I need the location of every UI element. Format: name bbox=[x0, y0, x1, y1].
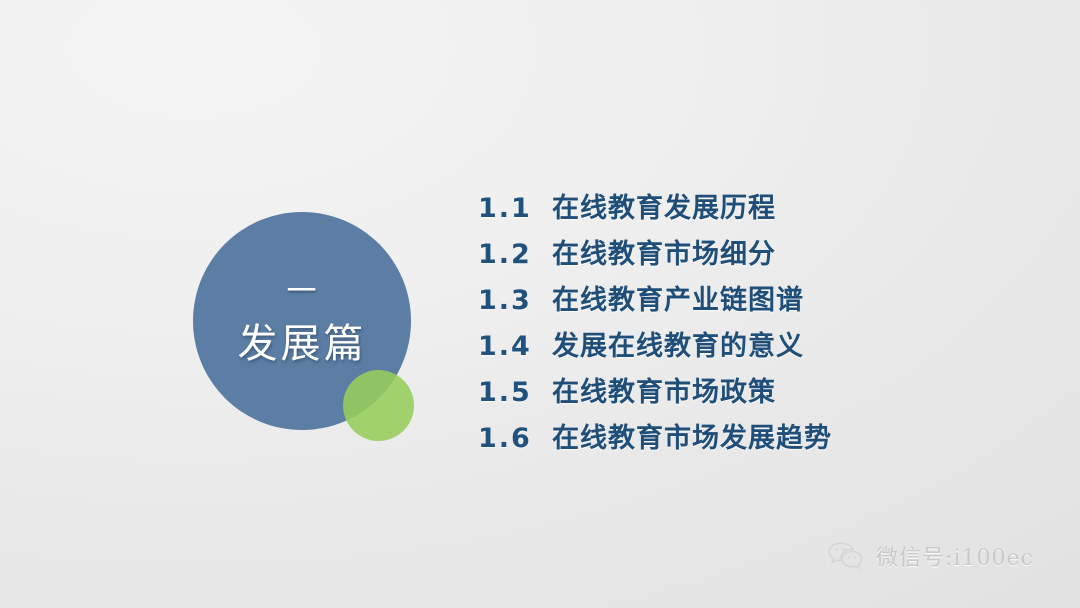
list-item[interactable]: 1.3 在线教育产业链图谱 bbox=[478, 278, 1008, 324]
list-item[interactable]: 1.4 发展在线教育的意义 bbox=[478, 324, 1008, 370]
agenda-item-number: 1.4 bbox=[478, 331, 544, 362]
list-item[interactable]: 1.2 在线教育市场细分 bbox=[478, 232, 1008, 278]
agenda-list: 1.1 在线教育发展历程 1.2 在线教育市场细分 1.3 在线教育产业链图谱 … bbox=[478, 186, 1008, 462]
list-item[interactable]: 1.6 在线教育市场发展趋势 bbox=[478, 416, 1008, 462]
list-item[interactable]: 1.1 在线教育发展历程 bbox=[478, 186, 1008, 232]
agenda-item-label: 发展在线教育的意义 bbox=[552, 324, 804, 363]
emblem-accent-circle-shape bbox=[343, 370, 414, 441]
list-item[interactable]: 1.5 在线教育市场政策 bbox=[478, 370, 1008, 416]
agenda-item-label: 在线教育产业链图谱 bbox=[552, 278, 804, 317]
agenda-item-number: 1.5 bbox=[478, 377, 544, 408]
wechat-watermark: 微信号:i100ec bbox=[828, 540, 1034, 572]
agenda-item-label: 在线教育市场发展趋势 bbox=[552, 416, 832, 455]
slide-canvas: 一 发展篇 1.1 在线教育发展历程 1.2 在线教育市场细分 1.3 在线教育… bbox=[0, 0, 1080, 608]
agenda-item-label: 在线教育发展历程 bbox=[552, 186, 776, 225]
agenda-item-label: 在线教育市场政策 bbox=[552, 370, 776, 409]
agenda-item-number: 1.3 bbox=[478, 285, 544, 316]
wechat-icon bbox=[828, 541, 866, 571]
wechat-id-text: 微信号:i100ec bbox=[876, 540, 1034, 572]
agenda-item-number: 1.2 bbox=[478, 239, 544, 270]
section-emblem: 一 发展篇 bbox=[193, 212, 411, 430]
agenda-item-number: 1.1 bbox=[478, 193, 544, 224]
agenda-item-number: 1.6 bbox=[478, 423, 544, 454]
agenda-item-label: 在线教育市场细分 bbox=[552, 232, 776, 271]
